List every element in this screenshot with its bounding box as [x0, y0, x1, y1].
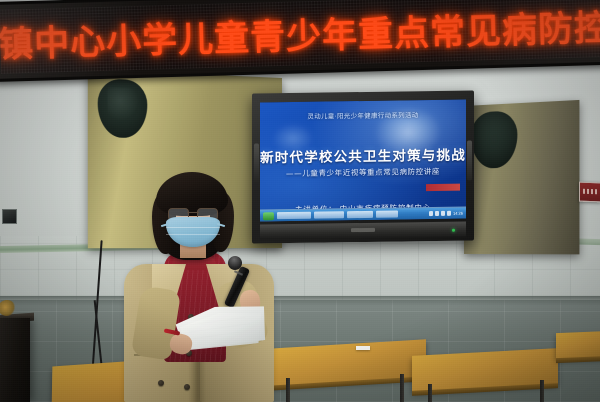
display-speaker-right — [467, 140, 472, 180]
side-cabinet — [0, 318, 30, 402]
coat-button — [184, 384, 190, 390]
desk-leg — [428, 384, 432, 402]
desk-paper-slip — [356, 346, 370, 350]
taskbar-item-powerpoint[interactable] — [314, 211, 344, 218]
desk-top — [556, 331, 600, 359]
wall-socket[interactable] — [2, 209, 17, 224]
desk-leg — [400, 374, 404, 402]
slide-corner-banner — [426, 184, 460, 191]
ime-icon[interactable] — [441, 211, 445, 216]
led-banner-panel: 沙溪镇中心小学儿童青少年重点常见病防控讲座 — [0, 0, 600, 74]
taskbar-item-media[interactable] — [376, 211, 398, 218]
coat-button — [158, 380, 164, 386]
shield-icon[interactable] — [447, 211, 451, 216]
desk-top — [412, 348, 558, 392]
red-notice-sign — [579, 182, 600, 203]
chalk-residue — [108, 88, 139, 121]
classroom-lecture-scene: 灵动儿童·阳光少年健康行动系列活动 新时代学校公共卫生对策与挑战 ——儿童青少年… — [0, 0, 600, 402]
power-led-icon — [452, 229, 455, 232]
student-desk-far-right — [556, 332, 600, 358]
taskbar-clock[interactable]: 14:26 — [453, 211, 463, 216]
floor-wall-junction — [0, 296, 600, 306]
desk-leg — [540, 380, 544, 402]
network-icon[interactable] — [429, 211, 433, 216]
led-banner-text: 沙溪镇中心小学儿童青少年重点常见病防控讲座 — [0, 0, 600, 69]
slide-title-text: 新时代学校公共卫生对策与挑战 — [260, 144, 466, 167]
eyeglass-bridge — [187, 212, 199, 213]
presenter — [118, 168, 294, 402]
student-desk-right — [412, 352, 558, 388]
taskbar-tray[interactable]: 14:26 — [429, 211, 463, 216]
taskbar-item-browser[interactable] — [347, 211, 373, 218]
chalkboard-right — [464, 100, 579, 254]
display-brand-logo — [351, 228, 375, 232]
led-banner-frame: 沙溪镇中心小学儿童青少年重点常见病防控讲座 — [0, 0, 600, 82]
volume-icon[interactable] — [435, 211, 439, 216]
